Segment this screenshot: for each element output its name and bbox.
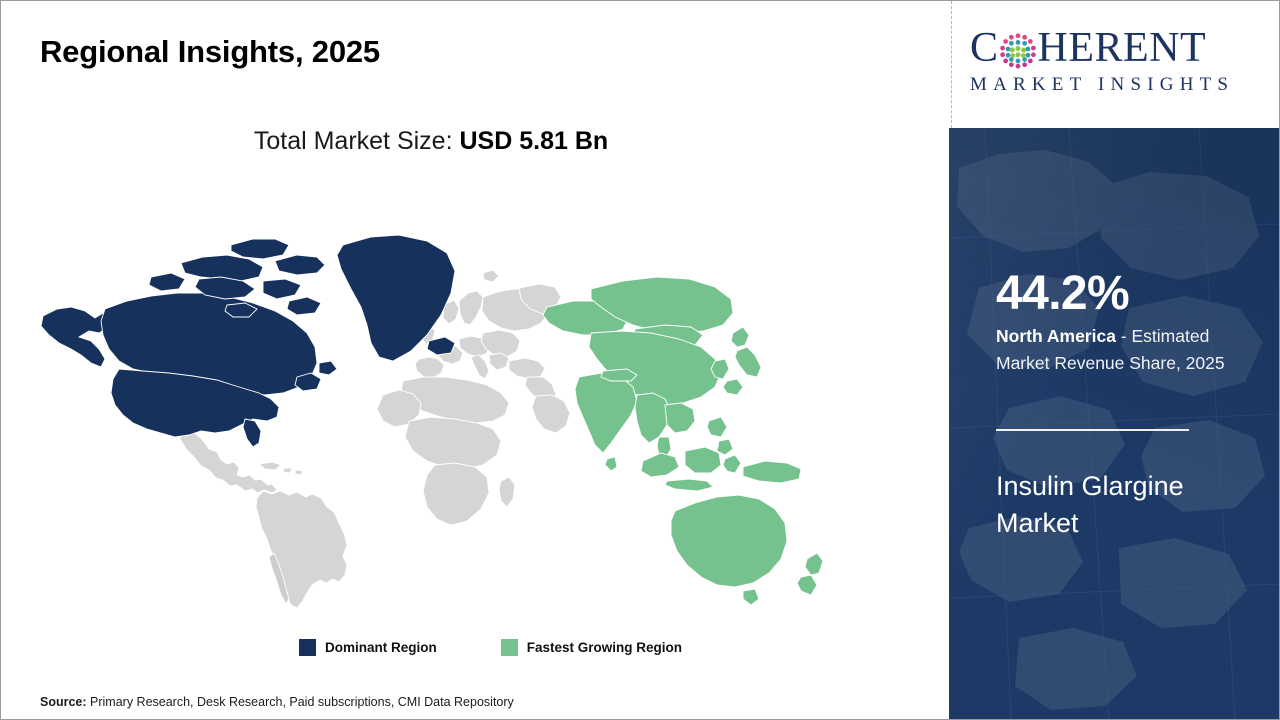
stat-region-name: North America [996,326,1116,346]
source-note: Source: Primary Research, Desk Research,… [40,695,514,709]
regional-stat-panel: 44.2% North America - Estimated Market R… [949,128,1279,719]
square-swatch-icon [299,639,316,656]
panel-divider [996,429,1189,431]
stat-percentage: 44.2% [996,270,1129,318]
left-content-panel: Regional Insights, 2025 Total Market Siz… [1,1,949,719]
legend-item-fastest-growing: Fastest Growing Region [501,639,682,656]
source-label: Source: [40,695,87,709]
logo-subtitle: MARKET INSIGHTS [970,74,1266,96]
logo-inner: C [970,25,1266,96]
world-map [31,181,841,621]
logo-letter-c: C [970,27,999,69]
infographic-slide: Regional Insights, 2025 Total Market Siz… [0,0,1280,720]
logo-wordmark: C [970,25,1266,71]
logo-letters-herent: HERENT [1038,27,1207,69]
legend-label-fastest-growing: Fastest Growing Region [527,640,682,655]
page-title: Regional Insights, 2025 [40,34,380,70]
total-market-size: Total Market Size: USD 5.81 Bn [1,127,861,156]
market-size-value: USD 5.81 Bn [459,127,608,155]
world-map-svg [31,181,841,621]
market-title: Insulin Glargine Market [996,468,1258,543]
stat-caption: North America - Estimated Market Revenue… [996,323,1262,376]
map-region-fastest-growing-asia-pacific [543,277,823,605]
market-size-label: Total Market Size: [254,127,460,155]
globe-dots-icon [999,31,1037,69]
panel-content: 44.2% North America - Estimated Market R… [996,128,1261,719]
legend-label-dominant: Dominant Region [325,640,437,655]
square-swatch-icon [501,639,518,656]
brand-logo: C [951,1,1279,128]
legend-item-dominant: Dominant Region [299,639,437,656]
map-legend: Dominant Region Fastest Growing Region [299,639,682,656]
source-text: Primary Research, Desk Research, Paid su… [87,695,514,709]
